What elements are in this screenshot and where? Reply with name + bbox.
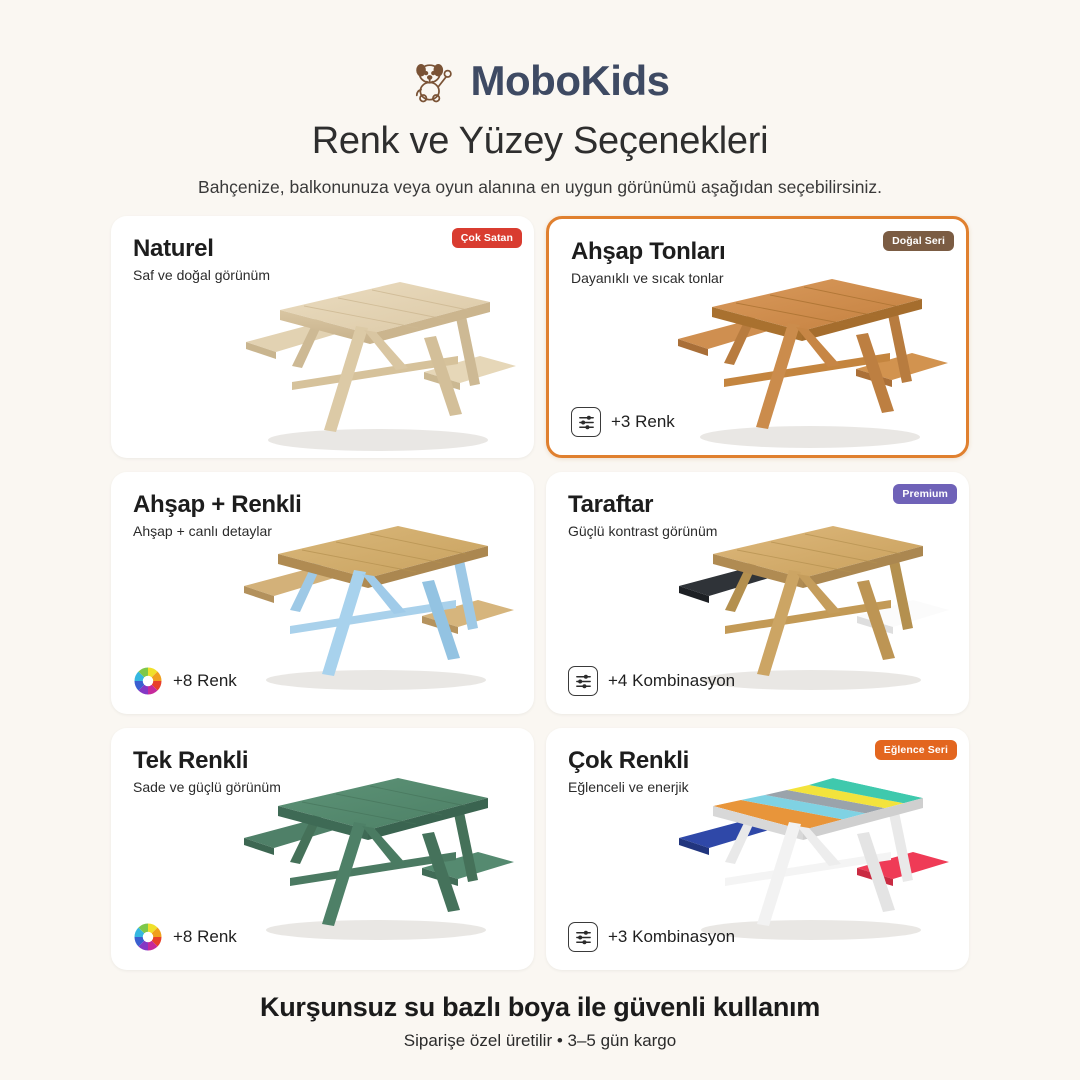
card-header: Ahşap + Renkli Ahşap + canlı detaylar xyxy=(133,492,302,539)
card-title: Ahşap Tonları xyxy=(571,239,725,265)
card-subtitle: Güçlü kontrast görünüm xyxy=(568,523,717,539)
option-card-grid: Çok Satan Naturel Saf ve doğal görünüm xyxy=(0,216,1080,970)
sliders-icon xyxy=(571,407,601,437)
card-title: Ahşap + Renkli xyxy=(133,492,302,518)
card-header: Ahşap Tonları Dayanıklı ve sıcak tonlar xyxy=(571,239,725,286)
card-title: Naturel xyxy=(133,236,270,262)
picnic-table-illustration-rainbow xyxy=(661,768,961,944)
footer-subline: Siparişe özel üretilir • 3–5 gün kargo xyxy=(0,1031,1080,1051)
brand-name: MoboKids xyxy=(471,60,670,102)
color-option-label: +3 Renk xyxy=(611,412,675,432)
color-option-row[interactable]: +8 Renk xyxy=(133,922,237,952)
sliders-icon xyxy=(568,666,598,696)
picnic-table-illustration-natural xyxy=(228,264,528,454)
status-badge: Premium xyxy=(893,484,957,504)
status-badge: Çok Satan xyxy=(452,228,522,248)
color-option-label: +4 Kombinasyon xyxy=(608,671,735,691)
card-title: Çok Renkli xyxy=(568,748,689,774)
card-subtitle: Saf ve doğal görünüm xyxy=(133,267,270,283)
option-card-taraftar[interactable]: Premium Taraftar Güçlü kontrast görünüm xyxy=(546,472,969,714)
card-header: Naturel Saf ve doğal görünüm xyxy=(133,236,270,283)
color-option-row[interactable]: +4 Kombinasyon xyxy=(568,666,735,696)
card-title: Tek Renkli xyxy=(133,748,281,774)
color-option-label: +8 Renk xyxy=(173,927,237,947)
poster-root: MoboKids Renk ve Yüzey Seçenekleri Bahçe… xyxy=(0,0,1080,1080)
card-header: Tek Renkli Sade ve güçlü görünüm xyxy=(133,748,281,795)
card-header: Çok Renkli Eğlenceli ve enerjik xyxy=(568,748,689,795)
color-option-row[interactable]: +8 Renk xyxy=(133,666,237,696)
puppy-mascot-icon xyxy=(411,58,457,104)
card-title: Taraftar xyxy=(568,492,717,518)
option-card-tek-renkli[interactable]: Tek Renkli Sade ve güçlü görünüm xyxy=(111,728,534,970)
option-card-naturel[interactable]: Çok Satan Naturel Saf ve doğal görünüm xyxy=(111,216,534,458)
picnic-table-illustration-wood-blue xyxy=(226,514,526,694)
sliders-icon xyxy=(568,922,598,952)
status-badge: Doğal Seri xyxy=(883,231,954,251)
footer-headline: Kurşunsuz su bazlı boya ile güvenli kull… xyxy=(0,992,1080,1023)
card-subtitle: Dayanıklı ve sıcak tonlar xyxy=(571,270,725,286)
color-option-label: +3 Kombinasyon xyxy=(608,927,735,947)
color-option-row[interactable]: +3 Kombinasyon xyxy=(568,922,735,952)
card-header: Taraftar Güçlü kontrast görünüm xyxy=(568,492,717,539)
footer: Kurşunsuz su bazlı boya ile güvenli kull… xyxy=(0,992,1080,1051)
status-badge: Eğlence Seri xyxy=(875,740,957,760)
page-title: Renk ve Yüzey Seçenekleri xyxy=(0,120,1080,163)
page-subtitle: Bahçenize, balkonunuza veya oyun alanına… xyxy=(0,177,1080,198)
option-card-cok-renkli[interactable]: Eğlence Seri Çok Renkli Eğlenceli ve ene… xyxy=(546,728,969,970)
option-card-ahsap-renkli[interactable]: Ahşap + Renkli Ahşap + canlı detaylar xyxy=(111,472,534,714)
card-subtitle: Eğlenceli ve enerjik xyxy=(568,779,689,795)
card-subtitle: Sade ve güçlü görünüm xyxy=(133,779,281,795)
color-option-row[interactable]: +3 Renk xyxy=(571,407,675,437)
picnic-table-illustration-teak xyxy=(660,261,960,451)
option-card-ahsap-tonlari[interactable]: Doğal Seri Ahşap Tonları Dayanıklı ve sı… xyxy=(546,216,969,458)
card-subtitle: Ahşap + canlı detaylar xyxy=(133,523,302,539)
color-option-label: +8 Renk xyxy=(173,671,237,691)
color-wheel-icon xyxy=(133,666,163,696)
color-wheel-icon xyxy=(133,922,163,952)
brand-header: MoboKids xyxy=(0,0,1080,104)
